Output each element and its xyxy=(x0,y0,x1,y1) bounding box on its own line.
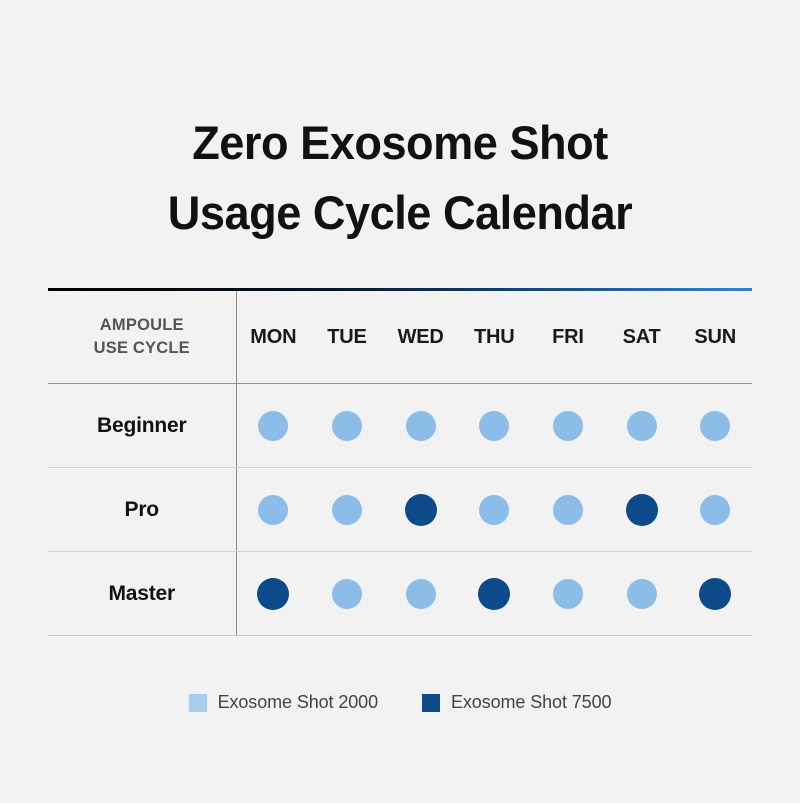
row-dots-cell-beginner xyxy=(236,384,752,468)
dot-cell-beginner-wed xyxy=(384,411,458,441)
dose-dot-light xyxy=(627,579,657,609)
dot-cell-pro-thu xyxy=(457,495,531,525)
dose-dot-light xyxy=(406,411,436,441)
dot-cell-master-mon xyxy=(237,578,311,610)
dot-row-pro xyxy=(237,494,753,526)
day-header-tue: TUE xyxy=(310,326,384,349)
table-row: Beginner xyxy=(48,384,752,468)
row-dots-cell-pro xyxy=(236,468,752,552)
dot-cell-beginner-sat xyxy=(605,411,679,441)
legend-swatch-dark-icon xyxy=(422,694,440,712)
dose-dot-light xyxy=(553,411,583,441)
dot-cell-beginner-tue xyxy=(310,411,384,441)
dose-dot-dark xyxy=(478,578,510,610)
table-row: Master xyxy=(48,552,752,636)
calendar-infographic: Zero Exosome Shot Usage Cycle Calendar A… xyxy=(0,0,800,803)
dot-cell-pro-tue xyxy=(310,495,384,525)
dose-dot-light xyxy=(553,495,583,525)
day-header-thu: THU xyxy=(457,326,531,349)
row-label-pro: Pro xyxy=(48,498,236,522)
dot-cell-beginner-sun xyxy=(678,411,752,441)
dot-cell-master-thu xyxy=(457,578,531,610)
dose-dot-light xyxy=(479,495,509,525)
dot-cell-pro-sun xyxy=(678,495,752,525)
dose-dot-dark xyxy=(699,578,731,610)
dot-cell-master-fri xyxy=(531,579,605,609)
table-row: Pro xyxy=(48,468,752,552)
row-label-beginner: Beginner xyxy=(48,414,236,438)
header-days-cell: MON TUE WED THU FRI SAT SUN xyxy=(236,291,752,384)
day-header-sat: SAT xyxy=(605,326,679,349)
dot-cell-master-tue xyxy=(310,579,384,609)
dose-dot-light xyxy=(700,411,730,441)
day-header-fri: FRI xyxy=(531,326,605,349)
legend-swatch-light-icon xyxy=(189,694,207,712)
ampoule-use-cycle-label-line-1: AMPOULE xyxy=(48,314,236,337)
row-dots-cell-master xyxy=(236,552,752,636)
calendar-grid: AMPOULE USE CYCLE MON TUE WED THU FRI SA… xyxy=(48,291,752,636)
header-label-cell: AMPOULE USE CYCLE xyxy=(48,291,236,384)
dose-dot-light xyxy=(627,411,657,441)
dot-cell-pro-fri xyxy=(531,495,605,525)
dot-row-beginner xyxy=(237,411,753,441)
dose-dot-light xyxy=(406,579,436,609)
dot-cell-master-sat xyxy=(605,579,679,609)
legend-item-2000: Exosome Shot 2000 xyxy=(189,692,378,713)
dose-dot-dark xyxy=(405,494,437,526)
row-label-master: Master xyxy=(48,582,236,606)
page-title-line-1: Zero Exosome Shot xyxy=(16,108,784,178)
day-header-mon: MON xyxy=(237,326,311,349)
row-label-cell-pro: Pro xyxy=(48,468,236,552)
dot-cell-beginner-thu xyxy=(457,411,531,441)
ampoule-use-cycle-label-line-2: USE CYCLE xyxy=(48,337,236,360)
legend-label-2000: Exosome Shot 2000 xyxy=(218,692,378,713)
dot-cell-pro-wed xyxy=(384,494,458,526)
dot-cell-master-wed xyxy=(384,579,458,609)
dot-cell-beginner-fri xyxy=(531,411,605,441)
day-header-wed: WED xyxy=(384,326,458,349)
dose-dot-light xyxy=(479,411,509,441)
day-header-sun: SUN xyxy=(678,326,752,349)
dot-cell-pro-sat xyxy=(605,494,679,526)
dose-dot-light xyxy=(700,495,730,525)
day-header-list: MON TUE WED THU FRI SAT SUN xyxy=(237,326,753,349)
legend-label-7500: Exosome Shot 7500 xyxy=(451,692,611,713)
row-label-cell-master: Master xyxy=(48,552,236,636)
dot-cell-beginner-mon xyxy=(237,411,311,441)
legend: Exosome Shot 2000 Exosome Shot 7500 xyxy=(0,692,800,713)
dose-dot-dark xyxy=(626,494,658,526)
dose-dot-dark xyxy=(257,578,289,610)
dot-cell-pro-mon xyxy=(237,495,311,525)
dot-cell-master-sun xyxy=(678,578,752,610)
legend-item-7500: Exosome Shot 7500 xyxy=(422,692,611,713)
dose-dot-light xyxy=(332,411,362,441)
row-label-cell-beginner: Beginner xyxy=(48,384,236,468)
page-title: Zero Exosome Shot Usage Cycle Calendar xyxy=(0,108,800,248)
usage-cycle-table: AMPOULE USE CYCLE MON TUE WED THU FRI SA… xyxy=(48,288,752,636)
dose-dot-light xyxy=(258,495,288,525)
dot-row-master xyxy=(237,578,753,610)
page-title-line-2: Usage Cycle Calendar xyxy=(16,178,784,248)
dose-dot-light xyxy=(258,411,288,441)
dose-dot-light xyxy=(553,579,583,609)
dose-dot-light xyxy=(332,579,362,609)
table-header-row: AMPOULE USE CYCLE MON TUE WED THU FRI SA… xyxy=(48,291,752,384)
calendar-body: AMPOULE USE CYCLE MON TUE WED THU FRI SA… xyxy=(48,291,752,636)
dose-dot-light xyxy=(332,495,362,525)
